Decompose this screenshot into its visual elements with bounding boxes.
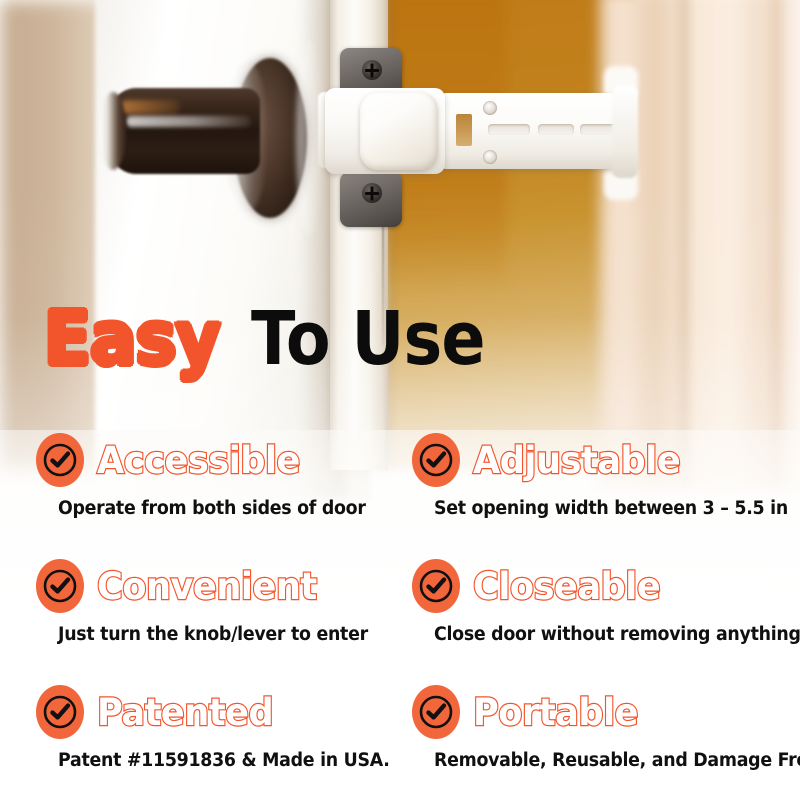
feature-title: Patented [97, 691, 273, 734]
door-knob-warm-reflection [120, 100, 180, 114]
feature-title: Accessible [97, 439, 300, 482]
lock-hook [612, 86, 638, 178]
feature-heading: Closeable [412, 558, 800, 614]
feature-title: Convenient [97, 565, 317, 608]
feature-description: Removable, Reusable, and Damage Free! [434, 750, 789, 771]
feature-title: Closeable [473, 565, 660, 608]
feature-title: Adjustable [473, 439, 680, 482]
feature-description: Operate from both sides of door [58, 498, 391, 519]
feature-item-closeable: Closeable Close door without removing an… [412, 558, 800, 684]
lock-arm-notch-1 [488, 124, 530, 135]
feature-description: Close door without removing anything [434, 624, 789, 645]
check-circle-icon [36, 433, 84, 487]
feature-description: Just turn the knob/lever to enter [58, 624, 391, 645]
headline: Easy To Use [44, 296, 516, 382]
lock-arm-pin-top [483, 101, 497, 115]
lock-arm-window [456, 114, 472, 146]
feature-heading: Convenient [36, 558, 412, 614]
feature-title: Portable [473, 691, 638, 734]
headline-word-easy: Easy [44, 296, 220, 382]
feature-description: Patent #11591836 & Made in USA. [58, 750, 391, 771]
feature-heading: Patented [36, 684, 412, 740]
feature-heading: Accessible [36, 432, 412, 488]
check-circle-icon [36, 559, 84, 613]
lock-arm-notch-2 [538, 124, 574, 135]
mount-screw-top [362, 60, 382, 80]
feature-grid: Accessible Operate from both sides of do… [0, 432, 800, 800]
feature-item-accessible: Accessible Operate from both sides of do… [36, 432, 412, 558]
feature-description: Set opening width between 3 – 5.5 in [434, 498, 789, 519]
product-infographic: Easy To Use Accessible Operate from both… [0, 0, 800, 800]
feature-item-adjustable: Adjustable Set opening width between 3 –… [412, 432, 800, 558]
lock-release-button [360, 92, 438, 170]
check-circle-icon [36, 685, 84, 739]
headline-word-to-use: To Use [251, 296, 485, 382]
door-knob-cap [100, 92, 126, 170]
check-circle-icon [412, 685, 460, 739]
feature-item-portable: Portable Removable, Reusable, and Damage… [412, 684, 800, 800]
feature-heading: Adjustable [412, 432, 800, 488]
check-circle-icon [412, 559, 460, 613]
check-circle-icon [412, 433, 460, 487]
feature-item-patented: Patented Patent #11591836 & Made in USA. [36, 684, 412, 800]
door-knob-highlight [126, 116, 251, 127]
lock-arm-pin-bottom [483, 150, 497, 164]
feature-item-convenient: Convenient Just turn the knob/lever to e… [36, 558, 412, 684]
feature-heading: Portable [412, 684, 800, 740]
